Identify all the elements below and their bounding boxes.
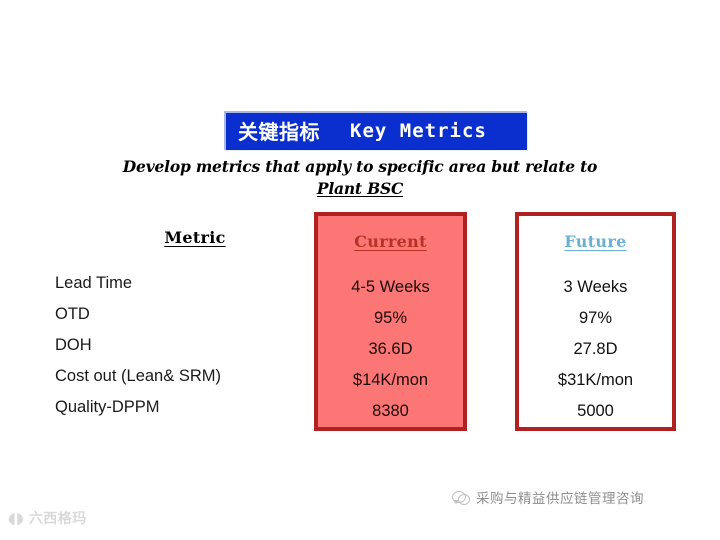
current-row-value: 4-5 Weeks: [318, 272, 463, 303]
slide-title-bar: 关键指标 Key Metrics: [224, 111, 527, 150]
future-row-value: 97%: [519, 303, 672, 334]
slide-canvas: 关键指标 Key Metrics Develop metrics that ap…: [0, 0, 720, 540]
metric-row-label: Cost out (Lean& SRM): [55, 361, 300, 392]
wechat-icon: [452, 490, 469, 505]
slide-subtitle: Develop metrics that apply to specific a…: [0, 156, 720, 200]
slide-title-chinese: 关键指标: [238, 122, 320, 142]
subtitle-line-2-underlined: Plant BSC: [317, 179, 403, 198]
metric-column: Metric Lead Time OTD DOH Cost out (Lean&…: [55, 228, 300, 423]
current-row-value: 8380: [318, 396, 463, 427]
future-value-list: 3 Weeks 97% 27.8D $31K/mon 5000: [519, 272, 672, 427]
current-row-value: 36.6D: [318, 334, 463, 365]
current-column-header: Current: [318, 232, 463, 251]
metric-row-label: Lead Time: [55, 268, 300, 299]
current-values-box: Current 4-5 Weeks 95% 36.6D $14K/mon 838…: [314, 212, 467, 431]
watermark-bottom-right: 采购与精益供应链管理咨询: [452, 487, 644, 507]
future-row-value: 27.8D: [519, 334, 672, 365]
metric-label-list: Lead Time OTD DOH Cost out (Lean& SRM) Q…: [55, 268, 300, 423]
future-row-value: 3 Weeks: [519, 272, 672, 303]
watermark-bottom-left-label: 六西格玛: [29, 508, 87, 528]
metric-row-label: DOH: [55, 330, 300, 361]
slide-title-english: Key Metrics: [350, 122, 487, 141]
current-row-value: 95%: [318, 303, 463, 334]
future-row-value: 5000: [519, 396, 672, 427]
future-row-value: $31K/mon: [519, 365, 672, 396]
metric-row-label: OTD: [55, 299, 300, 330]
watermark-bottom-left: ◖◗ 六西格玛: [8, 508, 87, 528]
watermark-bottom-right-label: 采购与精益供应链管理咨询: [476, 487, 644, 507]
metric-column-header: Metric: [110, 228, 280, 247]
watermark-logo-icon: ◖◗: [8, 511, 24, 526]
current-value-list: 4-5 Weeks 95% 36.6D $14K/mon 8380: [318, 272, 463, 427]
subtitle-line-2: Plant BSC: [0, 178, 720, 200]
metric-row-label: Quality-DPPM: [55, 392, 300, 423]
current-row-value: $14K/mon: [318, 365, 463, 396]
subtitle-line-1: Develop metrics that apply to specific a…: [123, 157, 597, 176]
future-column-header: Future: [519, 232, 672, 251]
future-values-box: Future 3 Weeks 97% 27.8D $31K/mon 5000: [515, 212, 676, 431]
